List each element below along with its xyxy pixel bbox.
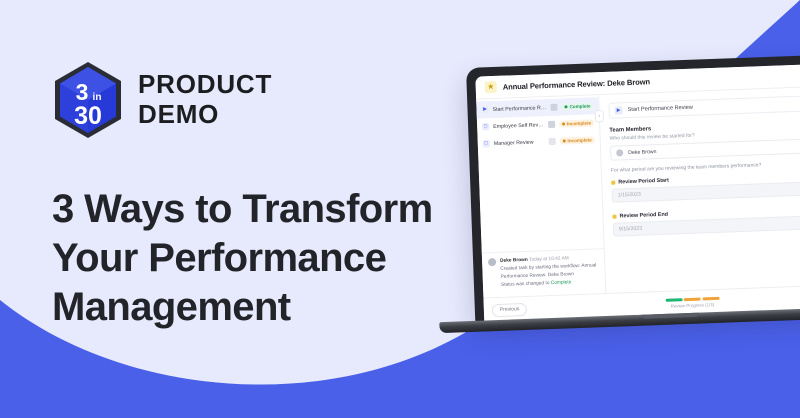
brand-wordmark: Product Demo	[138, 70, 272, 129]
status-text: Incomplete	[567, 120, 591, 126]
activity-body: Deke Brown Today at 10:42 AM Created tas…	[500, 255, 599, 290]
lightbulb-icon: ★	[485, 81, 497, 93]
headline-line-2: Your Performance	[52, 234, 472, 283]
status-text: Incomplete	[567, 137, 591, 143]
activity-time: Today at 10:42 AM	[529, 257, 569, 263]
activity-entry: Deke Brown Today at 10:42 AM Created tas…	[482, 248, 606, 297]
review-progress: Review Progress (1/3)	[665, 297, 719, 309]
laptop-mockup: ★ Annual Performance Review: Deke Brown …	[466, 53, 800, 338]
previous-button[interactable]: Previous	[492, 302, 528, 316]
status-badge: Complete	[561, 102, 593, 110]
required-icon	[612, 215, 616, 219]
headline-line-3: Management	[52, 283, 472, 332]
left-content: 3 in 30 Product Demo 3 Ways to Transform…	[52, 60, 472, 331]
doc-icon: □	[483, 140, 490, 147]
task-panel: ▶ Start Performance Review Complete □ Em…	[476, 95, 606, 297]
app-body: ▶ Start Performance Review Complete □ Em…	[476, 85, 800, 298]
play-icon: ▶	[481, 106, 488, 113]
team-member-chip[interactable]: Deke Brown	[610, 137, 800, 160]
status-dot-icon	[562, 139, 565, 142]
status-dot-icon	[562, 122, 565, 125]
team-member-name: Deke Brown	[628, 149, 656, 156]
collapse-panel-button[interactable]: ‹	[595, 110, 604, 122]
status-badge: Incomplete	[559, 136, 594, 144]
field-label-text: Review Period Start	[618, 178, 669, 186]
form-header-text: Start Performance Review	[628, 105, 693, 113]
status-badge: Incomplete	[559, 119, 594, 127]
activity-status-link[interactable]: Complete	[551, 280, 572, 286]
status-text: Complete	[569, 103, 590, 109]
date-value: 9/15/2023	[619, 226, 642, 233]
brand-line-2: Demo	[138, 100, 272, 130]
progress-segment	[684, 298, 701, 302]
required-icon	[611, 181, 615, 185]
assignee-avatar	[548, 121, 555, 128]
avatar	[616, 149, 623, 156]
doc-icon: □	[482, 123, 489, 130]
assignee-avatar-empty	[548, 138, 555, 145]
task-row[interactable]: □ Manager Review Incomplete	[477, 131, 600, 152]
field-label-text: Review Period End	[619, 212, 668, 220]
app-screen: ★ Annual Performance Review: Deke Brown …	[475, 62, 800, 323]
task-list: ▶ Start Performance Review Complete □ Em…	[476, 95, 600, 152]
laptop-lid: ★ Annual Performance Review: Deke Brown …	[466, 53, 800, 323]
page-title: 3 Ways to Transform Your Performance Man…	[52, 185, 472, 331]
brand-line-1: Product	[138, 70, 272, 100]
task-label: Start Performance Review	[492, 105, 546, 113]
progress-segment	[665, 298, 682, 302]
progress-label: Review Progress (1/3)	[665, 302, 719, 309]
activity-status-prefix: Status was changed to	[501, 281, 550, 288]
task-label: Employee Self Review	[493, 122, 544, 130]
play-icon: ▶	[615, 106, 623, 114]
progress-segment	[702, 297, 719, 301]
brand-lockup: 3 in 30 Product Demo	[52, 60, 472, 140]
logo-number-30: 30	[74, 102, 102, 130]
form-panel: ▶ Start Performance Review Team Members …	[599, 85, 800, 293]
headline-line-1: 3 Ways to Transform	[52, 185, 472, 234]
app-title-text: Annual Performance Review: Deke Brown	[503, 77, 651, 91]
form-header: ▶ Start Performance Review	[608, 93, 800, 119]
form-question: For what period are you reviewing the te…	[611, 158, 800, 174]
assignee-avatar	[550, 104, 557, 111]
logo-hexagon: 3 in 30	[52, 60, 124, 140]
activity-author: Deke Brown	[500, 258, 528, 264]
task-label: Manager Review	[494, 139, 545, 147]
status-dot-icon	[564, 105, 567, 108]
date-value: 1/15/2023	[618, 192, 641, 199]
avatar	[488, 258, 496, 266]
